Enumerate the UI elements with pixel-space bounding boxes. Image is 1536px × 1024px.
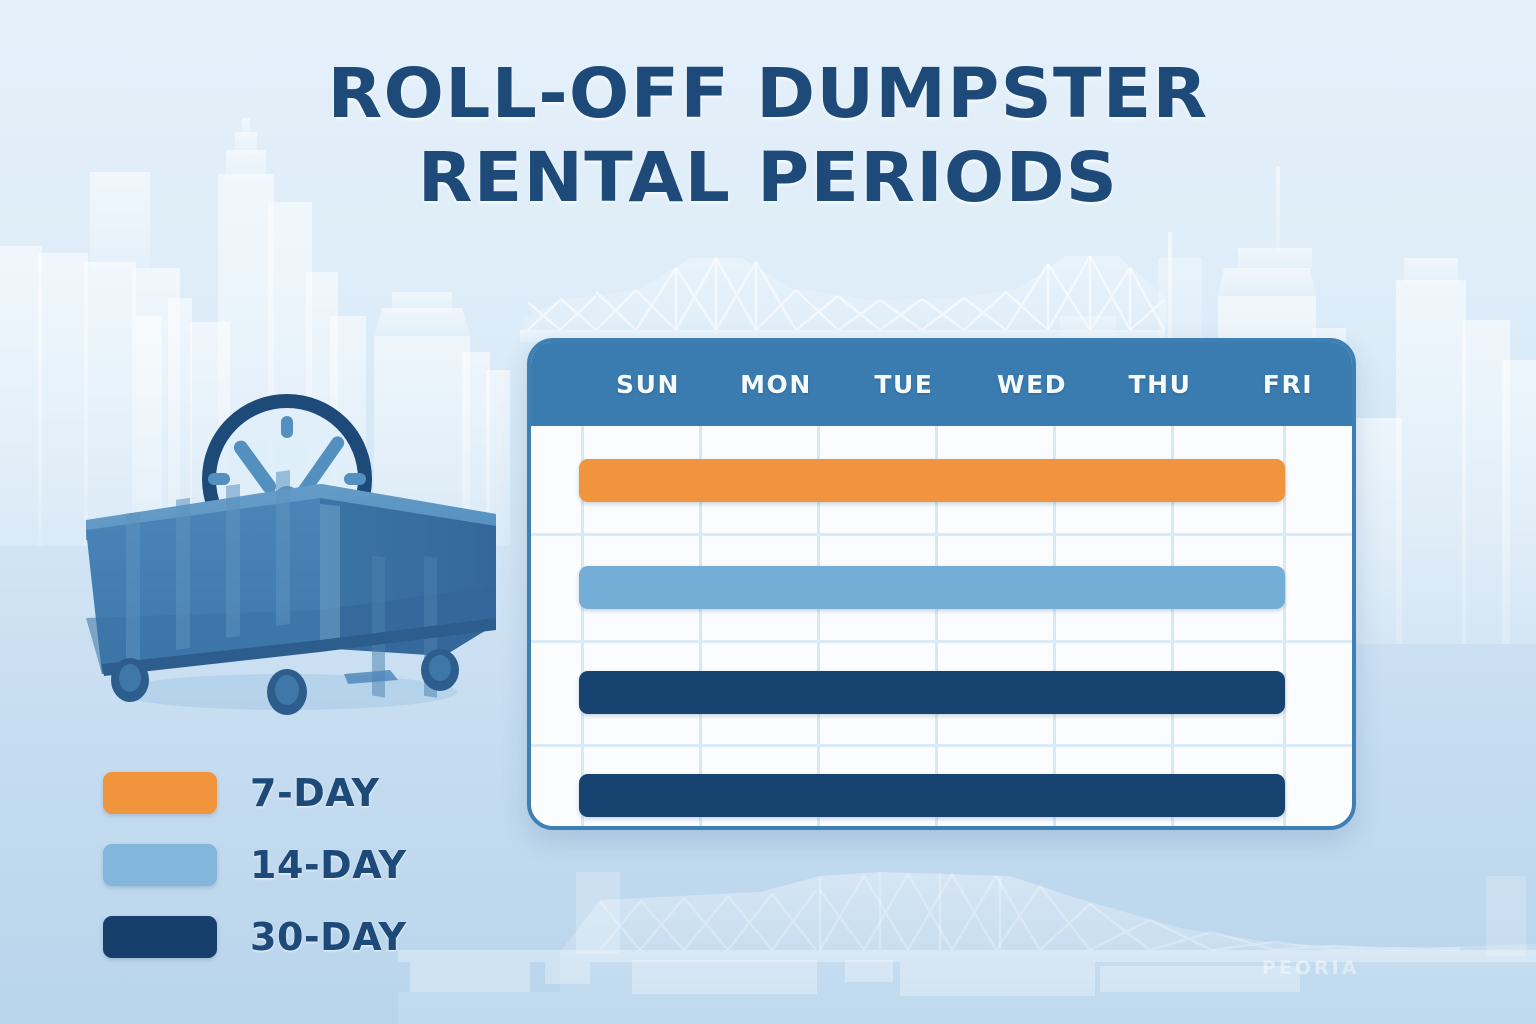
watermark-text: PEORIA	[1262, 957, 1359, 979]
rental-bar-14-day	[579, 566, 1285, 609]
grid-hline-1	[531, 533, 1352, 536]
bridge-lower	[398, 872, 1536, 1024]
infographic-canvas: ROLL-OFF DUMPSTER RENTAL PERIODS	[0, 0, 1536, 1024]
day-header-fri: FRI	[1224, 370, 1352, 399]
dumpster-icon	[86, 470, 496, 715]
calendar-header-row: SUN MON TUE WED THU FRI	[531, 342, 1352, 426]
calendar-grid	[531, 426, 1352, 826]
dumpster-clock-svg	[72, 318, 502, 723]
legend-label-14-day: 14-DAY	[250, 843, 406, 887]
day-header-tue: TUE	[840, 370, 968, 399]
rental-bar-30-day-a	[579, 671, 1285, 714]
clock-tick-9	[208, 473, 230, 485]
rental-bar-30-day-b	[579, 774, 1285, 817]
title-line-1: ROLL-OFF DUMPSTER	[0, 52, 1536, 136]
day-header-mon: MON	[712, 370, 840, 399]
title-line-2: RENTAL PERIODS	[0, 136, 1536, 220]
grid-hline-3	[531, 744, 1352, 747]
day-header-wed: WED	[968, 370, 1096, 399]
dumpster-clock-illustration	[72, 318, 502, 723]
clock-tick-12	[281, 416, 293, 438]
legend-swatch-14-day	[103, 844, 217, 886]
legend-swatch-30-day	[103, 916, 217, 958]
legend-label-30-day: 30-DAY	[250, 915, 406, 959]
rental-bar-7-day	[579, 459, 1285, 502]
day-header-sun: SUN	[584, 370, 712, 399]
legend-item-14-day: 14-DAY	[103, 829, 406, 901]
calendar-card: SUN MON TUE WED THU FRI	[527, 338, 1356, 830]
legend-swatch-7-day	[103, 772, 217, 814]
legend-label-7-day: 7-DAY	[250, 771, 380, 815]
legend: 7-DAY 14-DAY 30-DAY	[103, 757, 406, 973]
clock-tick-3	[344, 473, 366, 485]
legend-item-7-day: 7-DAY	[103, 757, 406, 829]
day-header-thu: THU	[1096, 370, 1224, 399]
legend-item-30-day: 30-DAY	[103, 901, 406, 973]
grid-hline-2	[531, 640, 1352, 643]
page-title: ROLL-OFF DUMPSTER RENTAL PERIODS	[0, 52, 1536, 220]
